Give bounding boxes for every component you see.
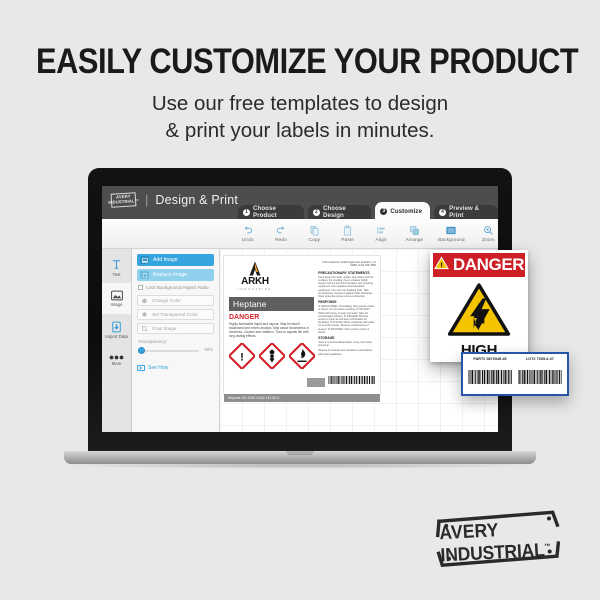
copy-icon [305, 224, 324, 237]
barcode-icon [468, 363, 512, 396]
laptop-base [64, 451, 536, 464]
barcode-icon [328, 374, 376, 392]
subheading-line-1: Use our free templates to design [0, 90, 600, 117]
electrical-shock-pictogram [447, 282, 511, 343]
zoom-icon [479, 224, 498, 237]
ghs-pictograms: ! [229, 343, 314, 374]
row-label: Set Transparent Color [152, 312, 198, 317]
tool-label: Align [371, 238, 390, 243]
precaution-body: Keep away from heat, sparks, open flame … [318, 276, 376, 298]
avery-logo-line-2: INDUSTRIAL™ [108, 199, 139, 205]
brand-separator: | [145, 192, 148, 207]
app-header: AVERY INDUSTRIAL™ | Design & Print 1 Cho… [102, 186, 498, 219]
company-name: ARKH [241, 276, 269, 287]
page-title: EASILY CUSTOMIZE YOUR PRODUCT [36, 42, 564, 82]
warning-triangle-icon: ! [434, 255, 449, 275]
mountain-logo-icon [244, 261, 266, 276]
rail-label: Image [111, 303, 123, 308]
danger-body: HIGH VOLTAGE [433, 277, 525, 361]
copy-button[interactable]: Copy [305, 224, 324, 243]
product-name-banner: Heptane [229, 297, 314, 311]
danger-header: ! DANGER [433, 253, 525, 277]
align-button[interactable]: Align [371, 224, 390, 243]
avery-industrial-logo-icon: AVERY INDUSTRIAL™ [111, 192, 137, 208]
signal-word: DANGER [453, 255, 524, 275]
replace-image-button[interactable]: Replace Image [137, 269, 214, 281]
lot-number-caption: LOT# 7005-6-07 [526, 357, 554, 361]
step-number: 3 [380, 208, 387, 215]
subheading-line-2: & print your labels in minutes. [0, 117, 600, 144]
editor-toolbar: Undo Redo Copy [102, 219, 498, 249]
button-label: Replace Image [153, 272, 187, 278]
lock-aspect-ratio-checkbox[interactable]: Lock Background Aspect Ratio [138, 285, 214, 290]
tool-label: Arrange [405, 238, 424, 243]
paste-icon [338, 224, 357, 237]
rail-label: Text [113, 273, 121, 278]
ghs-right-column: Arkh Industries 10400 Ingles Ave Anaheim… [314, 261, 376, 374]
undo-button[interactable]: Undo [238, 224, 257, 243]
tool-label: Paste [338, 238, 357, 243]
storage-body: Store in a well-ventilated place. Keep c… [318, 341, 376, 347]
signal-word: DANGER [229, 314, 314, 321]
tool-rail: Text Image Import Data More [102, 249, 132, 432]
part-number-column: PART# 0879345-45 [467, 357, 513, 391]
palette-icon [141, 297, 148, 304]
arrange-button[interactable]: Arrange [405, 224, 424, 243]
ghs-barcode-area [224, 374, 380, 394]
flame-pictogram [289, 343, 315, 374]
replace-icon [140, 271, 149, 279]
step-number: 2 [313, 209, 320, 216]
barcode-asset-label: PART# 0879345-45 [461, 352, 569, 396]
company-subtitle: INDUSTRIES [238, 287, 272, 291]
image-options-panel: Add Image Replace Image Lock Background … [132, 249, 220, 432]
sidebar-item-image[interactable]: Image [102, 283, 131, 314]
part-number-caption: PART# 0879345-45 [473, 357, 506, 361]
precaution-heading: PRECAUTIONARY STATEMENTS [318, 271, 376, 275]
see-how-link[interactable]: See How [137, 365, 214, 371]
add-image-button[interactable]: Add Image [137, 254, 214, 266]
slider-knob[interactable] [138, 347, 145, 354]
background-button[interactable]: Background [438, 224, 465, 243]
tab-choose-product[interactable]: 1 Choose Product [238, 205, 304, 219]
step-number: 4 [439, 209, 446, 216]
response-heading: RESPONSE [318, 300, 376, 304]
trademark-symbol: ™ [544, 543, 551, 550]
step-tabs: 1 Choose Product 2 Choose Design 3 Custo… [238, 202, 498, 219]
app-title: Design & Print [155, 193, 238, 207]
zoom-button[interactable]: Zoom [479, 224, 498, 243]
checkbox-box [138, 285, 143, 290]
redo-icon [271, 224, 290, 237]
ghs-label-design[interactable]: ARKH INDUSTRIES Heptane DANGER Highly fl… [223, 255, 381, 395]
sidebar-item-import-data[interactable]: Import Data [102, 314, 131, 345]
logo-wordmark: AVERY INDUSTRIAL™ [439, 519, 565, 566]
paste-button[interactable]: Paste [338, 224, 357, 243]
tab-label: Customize [390, 208, 422, 215]
tab-choose-design[interactable]: 2 Choose Design [308, 205, 371, 219]
transparency-value: 99% [204, 347, 213, 352]
ghs-footer-text: Heptane UN 1206 CAS# 142-82-5 [224, 394, 380, 402]
slider-track [138, 350, 199, 352]
change-color-button[interactable]: Change Color [137, 295, 214, 306]
crop-icon [141, 325, 148, 332]
eyedropper-icon [141, 311, 148, 318]
set-transparent-color-button[interactable]: Set Transparent Color [137, 309, 214, 320]
redo-button[interactable]: Redo [271, 224, 290, 243]
tab-label: Preview & Print [449, 205, 490, 219]
subheading: Use our free templates to design & print… [0, 90, 600, 144]
health-hazard-pictogram [259, 343, 285, 374]
transparency-label: Transparency: [138, 339, 214, 344]
tool-label: Redo [271, 238, 290, 243]
disposal-body: Dispose of contents and container in acc… [318, 349, 376, 355]
svg-text:!: ! [440, 260, 442, 269]
ghs-left-column: ARKH INDUSTRIES Heptane DANGER Highly fl… [229, 261, 314, 374]
tab-preview-and-print[interactable]: 4 Preview & Print [434, 205, 498, 219]
tool-label: Background [438, 238, 465, 243]
align-icon [371, 224, 390, 237]
ghs-label-body: ARKH INDUSTRIES Heptane DANGER Highly fl… [224, 256, 380, 374]
transparency-slider[interactable]: 99% [138, 347, 213, 355]
danger-high-voltage-label: ! DANGER HIGH VOLTAGE [430, 250, 528, 362]
svg-text:!: ! [240, 352, 244, 364]
rail-label: More [112, 362, 122, 367]
promo-image-canvas: EASILY CUSTOMIZE YOUR PRODUCT Use our fr… [0, 0, 600, 600]
tab-label: Choose Product [253, 205, 296, 219]
avery-industrial-footer-logo: AVERY INDUSTRIAL™ [432, 512, 572, 566]
exclamation-mark-pictogram: ! [229, 343, 255, 374]
company-address: Arkh Industries 10400 Ingles Ave Anaheim… [318, 261, 376, 268]
undo-icon [238, 224, 257, 237]
play-icon [137, 365, 145, 371]
lot-number-column: LOT# 7005-6-07 [517, 357, 563, 391]
row-label: Change Color [152, 298, 181, 303]
hazard-statements: Highly flammable liquid and vapour. May … [229, 322, 314, 338]
arkh-industries-logo: ARKH INDUSTRIES [229, 261, 281, 291]
checkbox-label: Lock Background Aspect Ratio [146, 285, 209, 290]
button-label: Add Image [153, 257, 178, 263]
app-brand[interactable]: AVERY INDUSTRIAL™ | Design & Print [102, 186, 238, 207]
barcode-placeholder-block [307, 374, 325, 392]
barcode-icon [518, 363, 562, 396]
background-icon [438, 224, 465, 237]
response-body: IF SWALLOWED: Immediately call a poison … [318, 305, 376, 334]
tab-label: Choose Design [323, 205, 363, 219]
tool-label: Zoom [479, 238, 498, 243]
step-number: 1 [243, 209, 250, 216]
sidebar-item-more[interactable]: More [102, 345, 131, 376]
rail-label: Import Data [105, 335, 127, 340]
tab-customize[interactable]: 3 Customize [375, 202, 430, 219]
tool-label: Undo [238, 238, 257, 243]
storage-heading: STORAGE [318, 336, 376, 340]
image-icon [140, 256, 149, 264]
tool-label: Copy [305, 238, 324, 243]
sidebar-item-text[interactable]: Text [102, 252, 131, 283]
link-label: See How [148, 365, 168, 371]
arrange-icon [405, 224, 424, 237]
logo-line-2: INDUSTRIAL™ [440, 537, 555, 565]
row-label: Crop Image [152, 326, 177, 331]
crop-image-button[interactable]: Crop Image [137, 323, 214, 334]
